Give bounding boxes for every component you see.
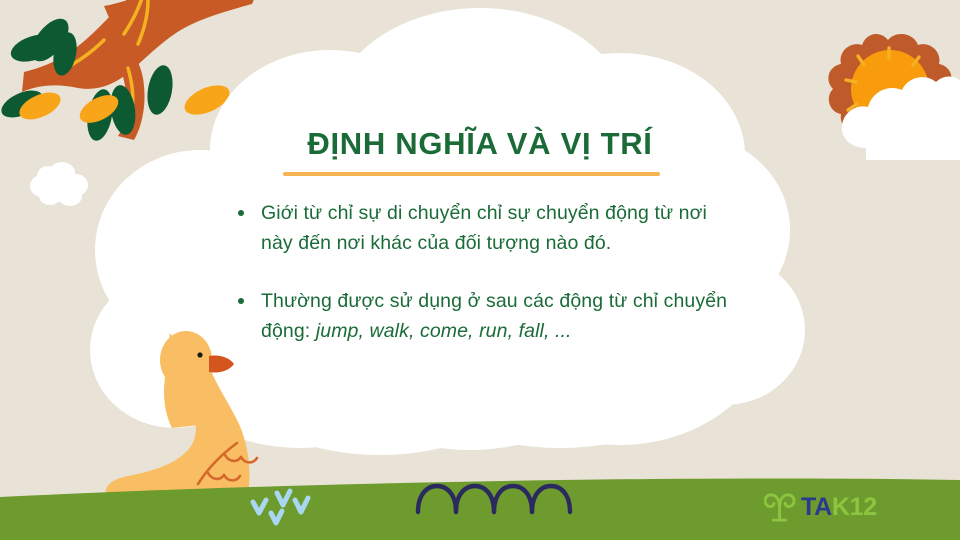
bullet-dot-icon [238, 298, 244, 304]
slide-canvas: ĐỊNH NGHĨA VÀ VỊ TRÍ Giới từ chỉ sự di c… [0, 0, 960, 540]
logo-text-k12: K12 [832, 493, 877, 521]
list-item-text: Thường được sử dụng ở sau các động từ ch… [261, 286, 738, 346]
sprout-icon [764, 492, 796, 522]
bullet-dot-icon [238, 210, 244, 216]
list-item: Giới từ chỉ sự di chuyển chỉ sự chuyển đ… [238, 198, 738, 258]
bullet-list: Giới từ chỉ sự di chuyển chỉ sự chuyển đ… [238, 198, 738, 374]
list-item-text-examples: jump, walk, come, run, fall, ... [316, 320, 572, 342]
list-item-text: Giới từ chỉ sự di chuyển chỉ sự chuyển đ… [261, 198, 738, 258]
list-item: Thường được sử dụng ở sau các động từ ch… [238, 286, 738, 346]
title-underline [283, 172, 660, 176]
logo-wordmark: TAK12 [801, 495, 877, 520]
brand-logo[interactable]: TAK12 [764, 492, 877, 522]
logo-text-ta: TA [801, 493, 832, 521]
page-title: ĐỊNH NGHĨA VÀ VỊ TRÍ [0, 126, 960, 162]
